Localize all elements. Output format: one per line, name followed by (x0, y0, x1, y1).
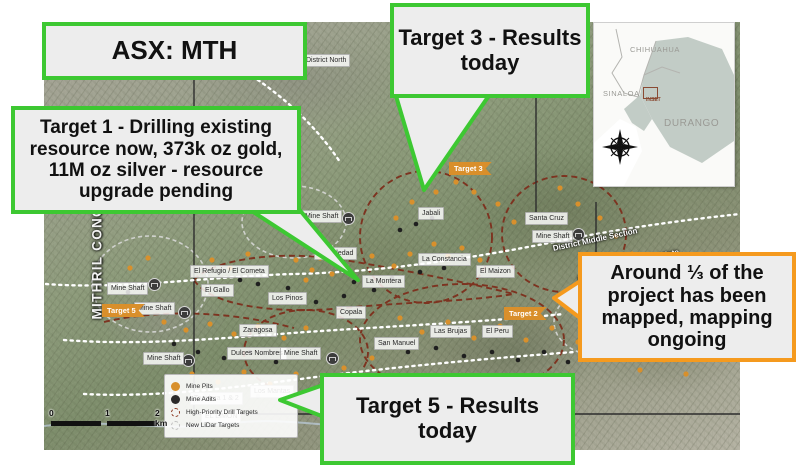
map-label: Mine Shaft (143, 352, 184, 365)
map-label: Mine Shaft (107, 282, 148, 295)
inset-locator-map[interactable]: CHIHUAHUA SINALOA DURANGO INSET (593, 22, 735, 187)
scale-tick-2: 2 km (155, 408, 169, 428)
legend-row: High-Priority Drill Targets (171, 406, 291, 419)
map-label: El Peru (482, 325, 513, 338)
legend-symbol-dashed-circle (171, 421, 180, 430)
legend-label: Mine Pits (186, 383, 213, 390)
map-label: San Manuel (374, 337, 419, 350)
inset-location-label: INSET (646, 97, 661, 103)
inset-state-sinaloa: SINALOA (603, 89, 640, 98)
callout-target-5-text: Target 5 - Results today (324, 394, 571, 443)
map-label: Dulces Nombres (227, 347, 287, 360)
mine-shaft-icon (326, 352, 339, 365)
callout-asx-ticker: ASX: MTH (42, 22, 307, 80)
legend-symbol-filled-circle (171, 382, 180, 391)
legend-label: Mine Adits (186, 396, 216, 403)
scale-bar: 0 1 2 km (49, 408, 169, 434)
legend-row: Mine Adits (171, 393, 291, 406)
map-label: Santa Cruz (525, 212, 568, 225)
map-label: Los Pinos (268, 292, 307, 305)
map-label: La Constancia (418, 253, 471, 266)
map-label: Copala (336, 306, 366, 319)
map-label: Zaragosa (239, 324, 277, 337)
map-label: El Gallo (201, 284, 234, 297)
inset-state-chihuahua: CHIHUAHUA (630, 45, 680, 54)
target-tag-target-5[interactable]: Target 5 (102, 304, 145, 317)
map-label: Las Brujas (430, 325, 471, 338)
scale-tick-0: 0 (49, 408, 54, 418)
legend-row: New LiDar Targets (171, 419, 291, 432)
inset-state-durango: DURANGO (664, 118, 719, 129)
callout-target-3-text: Target 3 - Results today (394, 26, 586, 75)
callout-tail-target1 (240, 202, 370, 282)
map-label: Jabali (418, 207, 444, 220)
callout-target-5: Target 5 - Results today (320, 373, 575, 465)
mine-shaft-icon (178, 306, 191, 319)
map-label: District North (302, 54, 350, 67)
mine-shaft-icon (148, 278, 161, 291)
callout-mapping-progress-text: Around ⅓ of the project has been mapped,… (590, 262, 784, 352)
callout-mapping-progress: Around ⅓ of the project has been mapped,… (578, 252, 796, 362)
callout-target-3: Target 3 - Results today (390, 3, 590, 98)
callout-tail-target3 (370, 90, 500, 200)
map-label: El Maizon (476, 265, 515, 278)
callout-target-1: Target 1 - Drilling existing resource no… (11, 106, 301, 214)
legend-label: New LiDar Targets (186, 422, 239, 429)
legend-label: High-Priority Drill Targets (186, 409, 258, 416)
target-tag-target-2[interactable]: Target 2 (504, 307, 547, 320)
legend-symbol-filled-circle (171, 395, 180, 404)
callout-asx-text: ASX: MTH (112, 36, 238, 65)
map-label: Mine Shaft (280, 347, 321, 360)
compass-rose-icon (602, 129, 638, 165)
callout-target-1-text: Target 1 - Drilling existing resource no… (23, 117, 289, 202)
scale-tick-1: 1 (105, 408, 110, 418)
legend-symbol-dashed-circle (171, 408, 180, 417)
legend-row: Mine Pits (171, 380, 291, 393)
